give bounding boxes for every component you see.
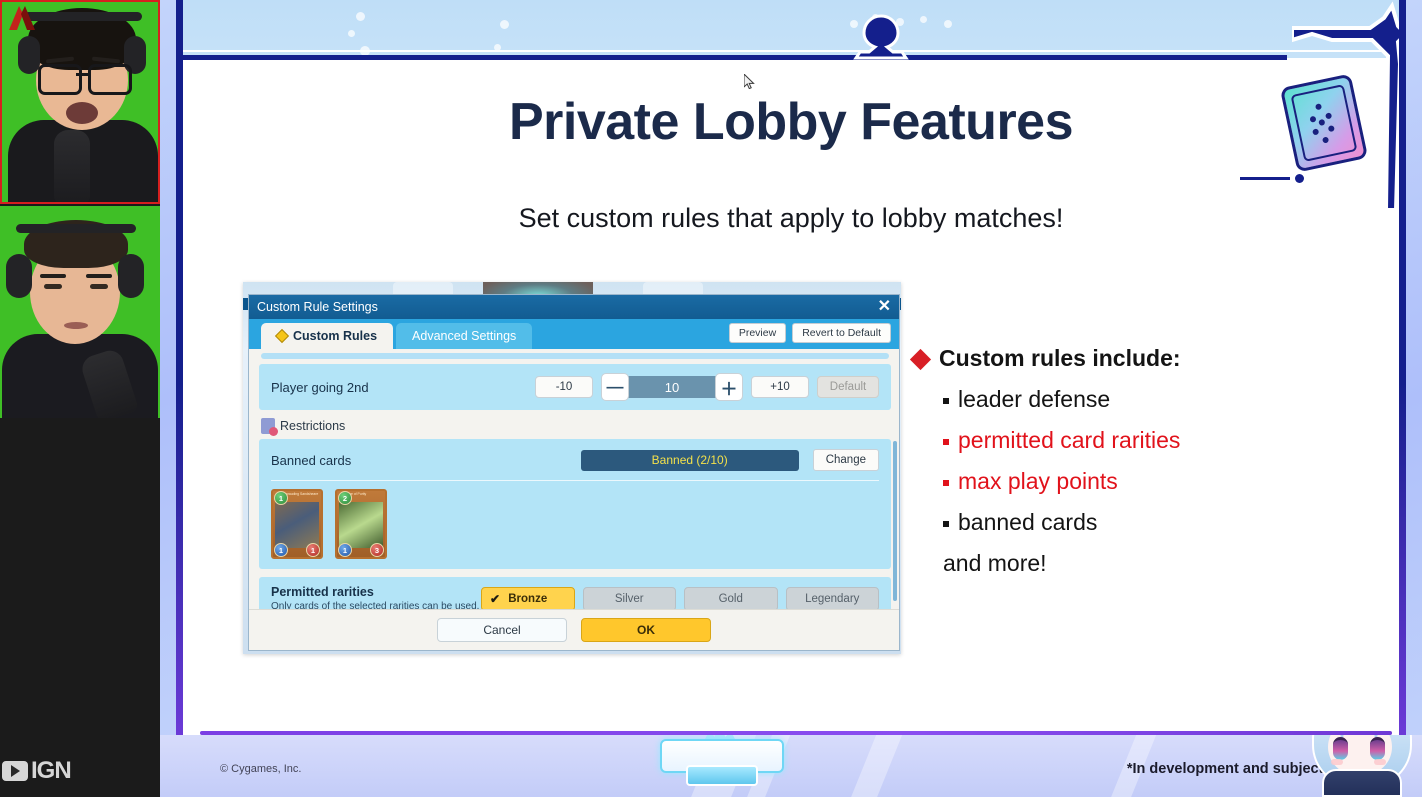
revert-to-default-button[interactable]: Revert to Default: [792, 323, 891, 343]
bullet-item-label: banned cards: [958, 509, 1097, 536]
square-bullet-icon: [943, 480, 949, 486]
card-name: Fire of Purity: [347, 492, 383, 500]
restrictions-label: Restrictions: [280, 419, 345, 433]
headphone-cup-left: [6, 254, 32, 298]
dialog-footer: Cancel OK: [249, 609, 899, 650]
accent-dot: [1295, 174, 1304, 183]
dialog-titlebar: Custom Rule Settings ✕: [249, 295, 899, 319]
check-icon: ✔: [490, 592, 500, 606]
ok-button[interactable]: OK: [581, 618, 711, 642]
glasses-right-lens: [88, 64, 132, 95]
close-icon[interactable]: ✕: [878, 297, 891, 317]
rarity-gold-toggle[interactable]: Gold: [684, 587, 778, 610]
person-mouth: [66, 102, 98, 124]
card-defense: 3: [370, 543, 384, 557]
rarity-bronze-toggle[interactable]: ✔ Bronze: [481, 587, 575, 610]
dialog-title: Custom Rule Settings: [257, 300, 378, 314]
dialog-scrollbar[interactable]: [893, 441, 897, 601]
custom-rule-settings-dialog: Custom Rule Settings ✕ Custom Rules Adva…: [248, 294, 900, 651]
banned-card-list: Marauding Sandsheare 1 1 1 Fire of Purit…: [271, 489, 879, 559]
scroll-top-stub: [261, 353, 889, 359]
restrictions-icon: [261, 418, 275, 434]
change-banned-cards-button[interactable]: Change: [813, 449, 879, 471]
stepper-value[interactable]: 10: [624, 376, 720, 398]
overlay-logo-icon: [5, 2, 39, 32]
bullet-item: leader defense: [913, 386, 1253, 413]
banned-card-thumbnail[interactable]: Fire of Purity 2 1 3: [335, 489, 387, 559]
square-bullet-icon: [943, 439, 949, 445]
square-bullet-icon: [943, 521, 949, 527]
person-mouth: [64, 322, 88, 329]
rarity-bronze-label: Bronze: [508, 593, 547, 605]
dialog-header-buttons: Preview Revert to Default: [729, 323, 891, 343]
card-attack: 1: [338, 543, 352, 557]
banned-cards-panel: Banned cards Banned (2/10) Change Maraud…: [259, 439, 891, 569]
rarity-legendary-toggle[interactable]: Legendary: [786, 587, 880, 610]
bullet-tail: and more!: [913, 550, 1253, 577]
tab-custom-rules-label: Custom Rules: [293, 329, 377, 343]
permitted-rarities-row: Permitted rarities Only cards of the sel…: [259, 577, 891, 609]
header-rule: [160, 55, 1287, 60]
diamond-icon: [275, 329, 289, 343]
decrement-button[interactable]: —: [601, 373, 629, 401]
copyright-text: © Cygames, Inc.: [220, 763, 301, 775]
bullet-item: permitted card rarities: [913, 427, 1253, 454]
bubble-decoration: [356, 12, 365, 21]
card-name: Marauding Sandsheare: [283, 492, 319, 500]
webcam-feed-bottom: [0, 206, 160, 418]
card-cost: 1: [274, 491, 288, 505]
rarity-legendary-label: Legendary: [805, 593, 859, 605]
square-bullet-icon: [943, 398, 949, 404]
permitted-rarities-title: Permitted rarities: [271, 585, 481, 599]
bullet-item: max play points: [913, 468, 1253, 495]
bullet-item: banned cards: [913, 509, 1253, 536]
card-attack: 1: [274, 543, 288, 557]
stream-screenshot: Private Lobby Features Set custom rules …: [0, 0, 1422, 797]
eye-right: [90, 284, 108, 289]
rarity-silver-label: Silver: [615, 593, 644, 605]
bullet-item-label: leader defense: [958, 386, 1110, 413]
banned-card-thumbnail[interactable]: Marauding Sandsheare 1 1 1: [271, 489, 323, 559]
rarity-gold-label: Gold: [719, 593, 743, 605]
page-subtitle: Set custom rules that apply to lobby mat…: [160, 203, 1422, 234]
permitted-rarities-note: Only cards of the selected rarities can …: [271, 601, 481, 609]
bullet-item-label: permitted card rarities: [958, 427, 1180, 454]
ornament-top-icon: [850, 14, 912, 62]
eyebrow-right: [86, 274, 112, 278]
glasses-left-lens: [38, 64, 82, 95]
default-button[interactable]: Default: [817, 376, 879, 398]
card-defense: 1: [306, 543, 320, 557]
play-icon: [2, 761, 28, 781]
presentation-slide: Private Lobby Features Set custom rules …: [160, 0, 1422, 797]
bullet-heading: Custom rules include:: [913, 345, 1253, 372]
microphone: [54, 130, 90, 204]
dialog-tabbar: Custom Rules Advanced Settings Preview R…: [249, 319, 899, 349]
banned-cards-label: Banned cards: [271, 453, 351, 468]
cancel-button[interactable]: Cancel: [437, 618, 567, 642]
slide-top-band: [160, 0, 1422, 58]
accent-line: [1240, 177, 1290, 180]
headphone-band: [16, 224, 136, 233]
eyebrow-left: [40, 274, 66, 278]
tab-advanced-settings[interactable]: Advanced Settings: [396, 323, 532, 349]
tab-advanced-settings-label: Advanced Settings: [412, 329, 516, 343]
game-screenshot: Custom Rule Settings ✕ Custom Rules Adva…: [243, 282, 901, 654]
logo-sub-plate: [686, 765, 758, 786]
player-going-2nd-row: Player going 2nd -10 — 10 ＋ +10 Default: [259, 364, 891, 410]
increment-button[interactable]: ＋: [715, 373, 743, 401]
headphone-band: [24, 12, 142, 21]
webcam-feed-top: [0, 0, 160, 204]
eye-left: [44, 284, 62, 289]
bullet-heading-label: Custom rules include:: [939, 345, 1181, 372]
chibi-character-avatar: [1300, 735, 1420, 797]
rarity-silver-toggle[interactable]: Silver: [583, 587, 677, 610]
banned-status-badge: Banned (2/10): [581, 450, 799, 471]
bubble-decoration: [944, 20, 952, 28]
card-cost: 2: [338, 491, 352, 505]
game-logo: [660, 735, 780, 791]
preview-button[interactable]: Preview: [729, 323, 786, 343]
ign-watermark-label: IGN: [31, 757, 71, 785]
tab-custom-rules[interactable]: Custom Rules: [261, 323, 393, 349]
restrictions-header: Restrictions: [261, 418, 889, 434]
value-stepper: — 10 ＋: [601, 373, 743, 401]
bullet-item-label: max play points: [958, 468, 1118, 495]
feature-bullet-list: Custom rules include: leader defense per…: [913, 345, 1253, 577]
glasses-bridge: [76, 73, 88, 76]
band-hairline: [160, 50, 1422, 52]
slide-footer: © Cygames, Inc. *In development and subj…: [160, 735, 1422, 797]
headphone-cup-left: [18, 36, 40, 74]
ign-watermark: IGN: [2, 757, 71, 785]
bubble-decoration: [500, 20, 509, 29]
diamond-bullet-icon: [910, 349, 931, 370]
bubble-decoration: [920, 16, 927, 23]
plus-ten-button[interactable]: +10: [751, 376, 809, 398]
minus-ten-button[interactable]: -10: [535, 376, 593, 398]
stepper-row-label: Player going 2nd: [271, 380, 369, 395]
divider: [271, 480, 879, 481]
dialog-body: Player going 2nd -10 — 10 ＋ +10 Default: [249, 349, 899, 609]
mouse-cursor: [744, 74, 755, 89]
headphone-cup-right: [118, 254, 144, 298]
page-title: Private Lobby Features: [160, 92, 1422, 152]
bubble-decoration: [348, 30, 355, 37]
